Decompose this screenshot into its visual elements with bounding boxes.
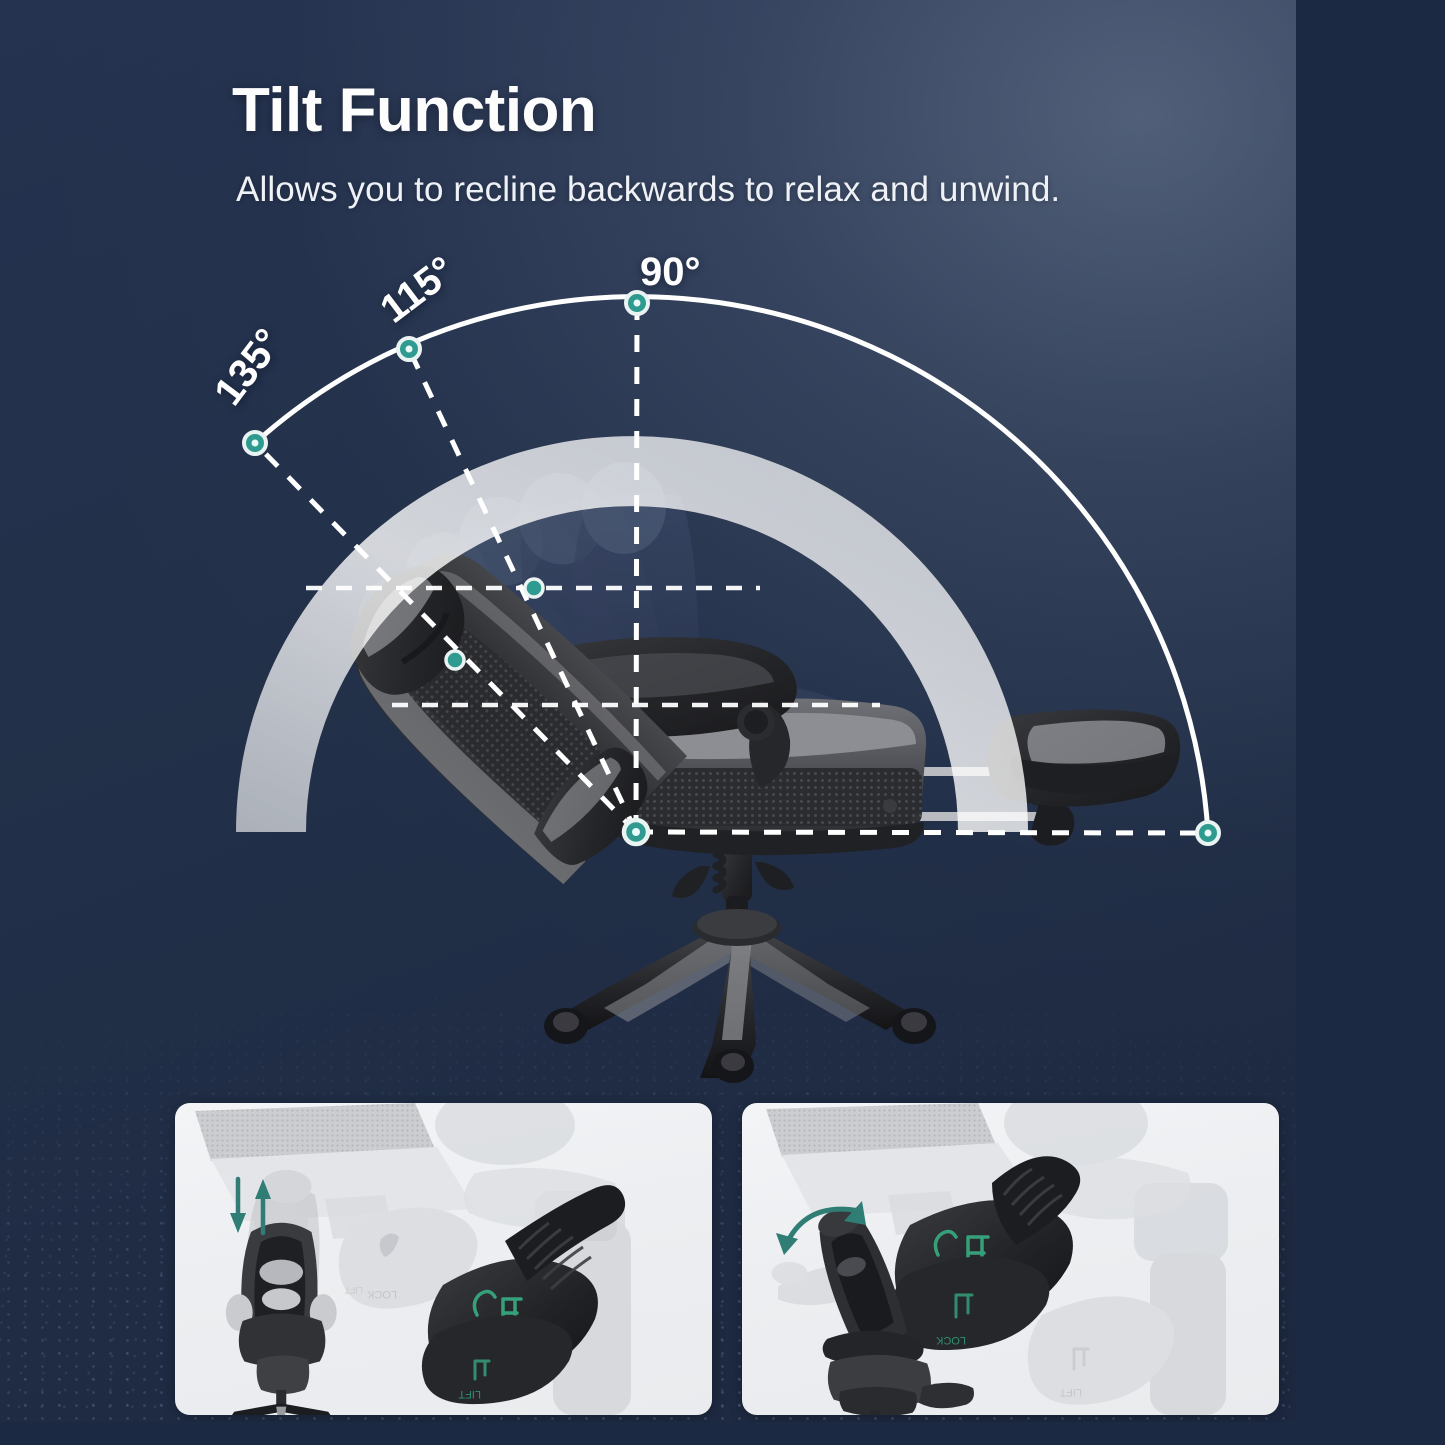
svg-text:LIFT: LIFT — [458, 1388, 481, 1400]
height-adjust-illustration: LOCK LIFT — [175, 1103, 712, 1415]
page-title: Tilt Function — [232, 78, 596, 143]
svg-text:LIFT: LIFT — [1059, 1386, 1082, 1398]
product-feature-image: 135° 115° 90° Tilt Function Allows you t… — [0, 0, 1445, 1445]
angle-nodes — [244, 292, 1219, 844]
frame-right-border — [1296, 0, 1445, 1445]
recline-lock-illustration: LIFT LOCK LIFT — [742, 1103, 1279, 1415]
page-subtitle: Allows you to recline backwards to relax… — [236, 170, 1060, 210]
svg-text:LOCK: LOCK — [935, 1334, 966, 1346]
angle-label-90: 90° — [640, 250, 701, 295]
recline-lock-card: LIFT LOCK LIFT — [742, 1103, 1279, 1415]
svg-text:LIFT: LIFT — [344, 1285, 363, 1295]
image-panel: 135° 115° 90° Tilt Function Allows you t… — [0, 0, 1296, 1422]
ghost-lock-label: LOCK — [366, 1288, 397, 1300]
frame-bottom-border — [0, 1422, 1445, 1445]
height-adjust-card: LOCK LIFT — [175, 1103, 712, 1415]
